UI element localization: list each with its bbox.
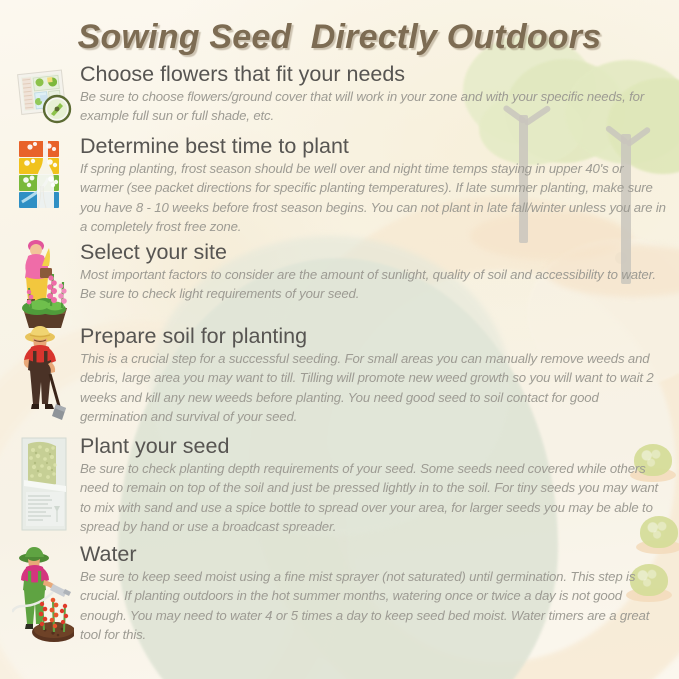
- step-text: If spring planting, frost season should …: [80, 159, 669, 237]
- gardener-with-shovel-icon: [16, 324, 78, 428]
- step-title: Choose flowers that fit your needs: [80, 62, 669, 86]
- step-title: Water: [80, 542, 669, 566]
- step-title: Prepare soil for planting: [80, 324, 669, 348]
- gardener-watering-icon: [12, 544, 74, 648]
- step-item: Prepare soil for planting This is a cruc…: [0, 324, 679, 434]
- step-item: Water Be sure to keep seed moist using a…: [0, 542, 679, 652]
- step-title: Select your site: [80, 240, 669, 264]
- step-item: Determine best time to plant If spring p…: [0, 134, 679, 240]
- infographic-poster: Sowing Seed Directly Outdoors: [0, 0, 679, 679]
- step-text: Be sure to choose flowers/ground cover t…: [80, 87, 669, 126]
- step-title: Plant your seed: [80, 434, 669, 458]
- step-title: Determine best time to plant: [80, 134, 669, 158]
- page-title: Sowing Seed Directly Outdoors: [0, 18, 679, 57]
- step-text: This is a crucial step for a successful …: [80, 349, 669, 427]
- steps-list: Choose flowers that fit your needs Be su…: [0, 62, 679, 652]
- garden-plan-map-icon: [14, 66, 76, 130]
- seed-packet-icon: [16, 436, 78, 536]
- step-text: Most important factors to consider are t…: [80, 265, 669, 304]
- step-item: Plant your seed Be sure to check plantin…: [0, 434, 679, 542]
- step-text: Be sure to keep seed moist using a fine …: [80, 567, 669, 645]
- step-item: Choose flowers that fit your needs Be su…: [0, 62, 679, 134]
- flower-bed-planter-icon: [15, 236, 77, 328]
- step-text: Be sure to check planting depth requirem…: [80, 459, 669, 537]
- four-seasons-tree-icon: [16, 140, 78, 220]
- step-item: Select your site Most important factors …: [0, 240, 679, 324]
